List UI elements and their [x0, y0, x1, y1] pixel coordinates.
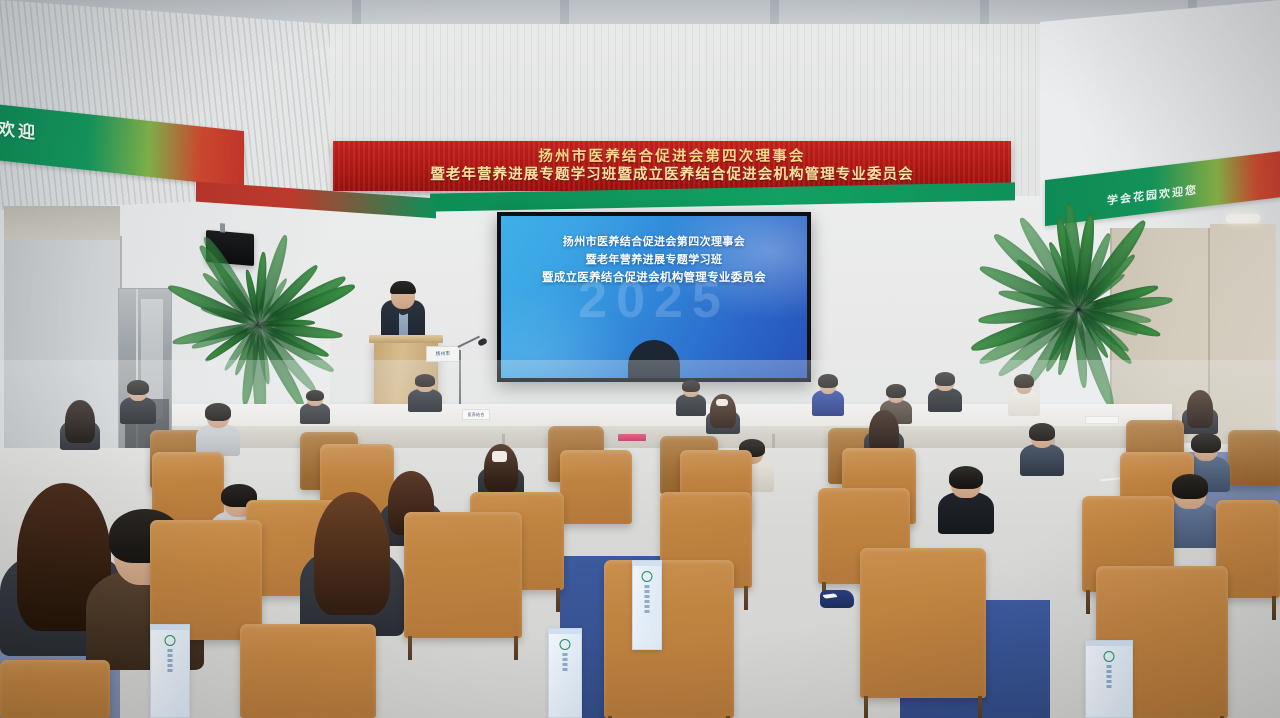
screen-line-3: 暨成立医养结合促进会机构管理专业委员会: [542, 269, 766, 285]
audience-member: [300, 388, 330, 424]
audience-member: [812, 372, 844, 416]
audience-member: [1008, 372, 1040, 416]
person-torso: [120, 397, 156, 424]
banner-line-2: 暨老年营养进展专题学习班暨成立医养结合促进会机构管理专业委员会: [430, 166, 914, 184]
screen-line-2: 暨老年营养进展专题学习班: [586, 251, 723, 267]
person-hair: [1172, 474, 1209, 499]
person-hair: [886, 384, 906, 397]
banner-line-1: 扬州市医养结合促进会第四次理事会: [538, 148, 805, 166]
person-hair: [65, 400, 95, 443]
audience-chair: [0, 660, 110, 718]
silhouette-head: [628, 340, 680, 378]
wall-banner-left-text: 欢迎: [0, 114, 38, 143]
presenter-hair: [390, 281, 416, 294]
person-torso: [1008, 390, 1040, 416]
screen-line-1: 扬州市医养结合促进会第四次理事会: [563, 233, 745, 249]
person-hair: [949, 466, 983, 489]
person-hair: [1029, 423, 1056, 441]
person-torso: [938, 492, 994, 534]
person-torso: [408, 389, 442, 412]
desk-name-card: 医养结合: [462, 409, 490, 420]
person-hair: [314, 492, 391, 615]
gift-bag: [1085, 640, 1133, 718]
audience-chair: [860, 548, 986, 698]
conference-photo: 欢迎 学会花园欢迎您 扬州市医养结合促进会第四次理事会 暨老年营养进展专题学习班…: [0, 0, 1280, 718]
shoe: [820, 590, 854, 608]
person-torso: [676, 394, 706, 416]
audience-chair: [1228, 430, 1280, 486]
audience-member: [928, 370, 962, 412]
audience-chair: [604, 560, 734, 718]
person-hair: [127, 380, 149, 395]
audience-member: [1020, 420, 1064, 476]
person-hair: [306, 390, 324, 402]
audience-member: [196, 400, 240, 456]
audience-member: [60, 398, 100, 450]
audience-chair: [240, 624, 376, 718]
person-hair: [205, 403, 232, 421]
wall-banner-right-text: 学会花园欢迎您: [1107, 181, 1198, 208]
person-torso: [300, 403, 330, 424]
gift-bag: [150, 624, 190, 718]
lectern-sign: 扬州市: [426, 346, 460, 362]
person-hair: [1014, 374, 1034, 388]
audience-member: [676, 378, 706, 416]
person-torso: [928, 388, 962, 412]
audience-member: [1182, 388, 1218, 434]
projection-screen: 2025 扬州市医养结合促进会第四次理事会 暨老年营养进展专题学习班 暨成立医养…: [497, 212, 811, 382]
audience-chair: [404, 512, 522, 638]
person-hair: [869, 410, 899, 453]
right-door-secondary: [1210, 224, 1276, 444]
person-torso: [812, 390, 844, 416]
gift-bag: [548, 628, 582, 718]
person-hair: [1187, 390, 1214, 428]
audience-member: [408, 372, 442, 412]
audience-member: [120, 378, 156, 424]
audience-member: [706, 392, 740, 434]
ceiling-light: [1226, 214, 1260, 223]
person-hair: [1191, 433, 1220, 453]
audience-member: [938, 462, 994, 534]
audience-chair: [150, 520, 262, 640]
person-hair: [415, 374, 436, 387]
person-hair: [935, 372, 956, 385]
person-hair: [682, 380, 700, 392]
audience-member: [300, 486, 404, 636]
hair-clip: [492, 451, 508, 461]
hair-clip: [716, 399, 728, 407]
person-hair: [818, 374, 838, 388]
audience-chair: [560, 450, 632, 524]
desk-white-paper: [1085, 416, 1119, 424]
gift-bag: [632, 560, 662, 650]
person-torso: [1020, 444, 1064, 476]
desk-red-folder: [618, 434, 646, 441]
